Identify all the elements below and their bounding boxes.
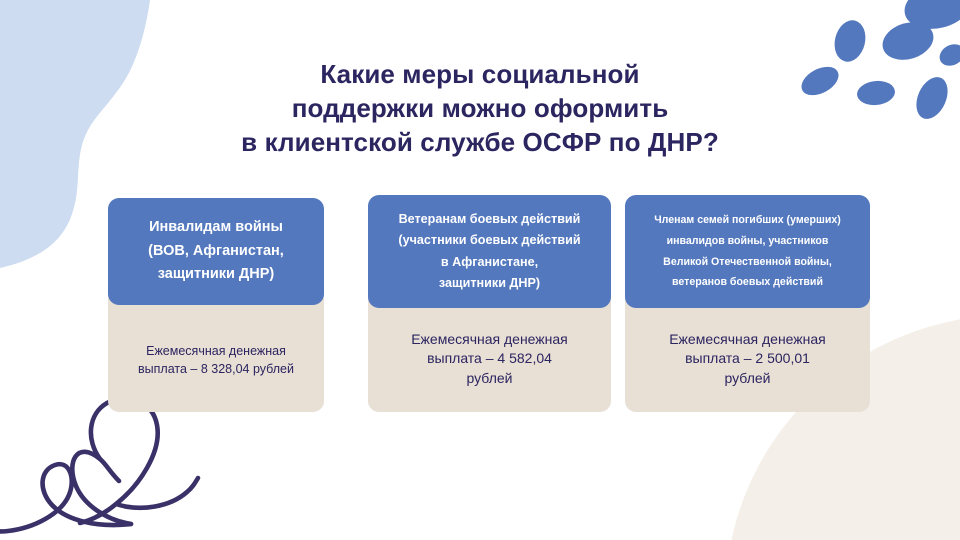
card-1-header-line-2: (ВОВ, Афганистан, — [118, 240, 314, 263]
card-1-body-line-1: Ежемесячная денежная — [108, 343, 324, 361]
benefit-card-1-body: Ежемесячная денежная выплата – 8 328,04 … — [108, 295, 324, 412]
swirl-big-loop — [80, 398, 158, 523]
card-2-header-line-3: в Афганистане, — [378, 252, 601, 273]
page-title: Какие меры социальной поддержки можно оф… — [180, 58, 780, 159]
benefit-card-2: Ветеранам боевых действий (участники бое… — [368, 195, 611, 412]
card-2-body-line-2: выплата – 4 582,04 — [368, 349, 611, 368]
card-2-body-line-3: рублей — [368, 369, 611, 388]
benefit-card-3: Членам семей погибших (умерших) инвалидо… — [625, 195, 870, 412]
deco-ellipse-1 — [900, 0, 960, 36]
deco-ellipse-5 — [797, 61, 844, 101]
deco-ellipse-7 — [910, 72, 953, 124]
deco-ellipse-4 — [878, 16, 938, 66]
swirl-tail — [116, 478, 198, 508]
deco-ellipse-2 — [936, 40, 960, 70]
top-right-dot-cluster — [797, 0, 960, 124]
page-title-line-2: поддержки можно оформить — [180, 92, 780, 126]
card-3-header-line-2: инвалидов войны, участников — [635, 231, 860, 252]
benefit-card-2-header: Ветеранам боевых действий (участники бое… — [368, 195, 611, 308]
card-1-header-line-3: защитники ДНР) — [118, 263, 314, 286]
card-1-header-line-1: Инвалидам войны — [118, 216, 314, 239]
card-1-body-line-2: выплата – 8 328,04 рублей — [108, 361, 324, 379]
swirl-connector — [72, 452, 131, 524]
swirl-small-loop — [0, 464, 131, 531]
card-2-header-line-4: защитники ДНР) — [378, 273, 601, 294]
card-3-body-line-1: Ежемесячная денежная — [625, 330, 870, 349]
card-3-header-line-4: ветеранов боевых действий — [635, 272, 860, 293]
card-3-body-line-3: рублей — [625, 369, 870, 388]
benefit-card-1: Инвалидам войны (ВОВ, Афганистан, защитн… — [108, 198, 324, 412]
card-3-header-line-3: Великой Отечественной войны, — [635, 252, 860, 273]
card-3-body-line-2: выплата – 2 500,01 — [625, 349, 870, 368]
benefit-card-3-body: Ежемесячная денежная выплата – 2 500,01 … — [625, 298, 870, 412]
card-2-header-line-1: Ветеранам боевых действий — [378, 209, 601, 230]
slide-canvas: Какие меры социальной поддержки можно оф… — [0, 0, 960, 540]
benefit-card-1-header: Инвалидам войны (ВОВ, Афганистан, защитн… — [108, 198, 324, 305]
page-title-line-1: Какие меры социальной — [180, 58, 780, 92]
card-2-header-line-2: (участники боевых действий — [378, 230, 601, 251]
benefit-card-2-body: Ежемесячная денежная выплата – 4 582,04 … — [368, 298, 611, 412]
card-3-header-line-1: Членам семей погибших (умерших) — [635, 210, 860, 231]
page-title-line-3: в клиентской службе ОСФР по ДНР? — [180, 126, 780, 160]
benefit-card-3-header: Членам семей погибших (умерших) инвалидо… — [625, 195, 870, 308]
bottom-left-swirl — [0, 398, 198, 531]
deco-ellipse-6 — [856, 79, 896, 107]
deco-ellipse-3 — [830, 17, 869, 65]
card-2-body-line-1: Ежемесячная денежная — [368, 330, 611, 349]
